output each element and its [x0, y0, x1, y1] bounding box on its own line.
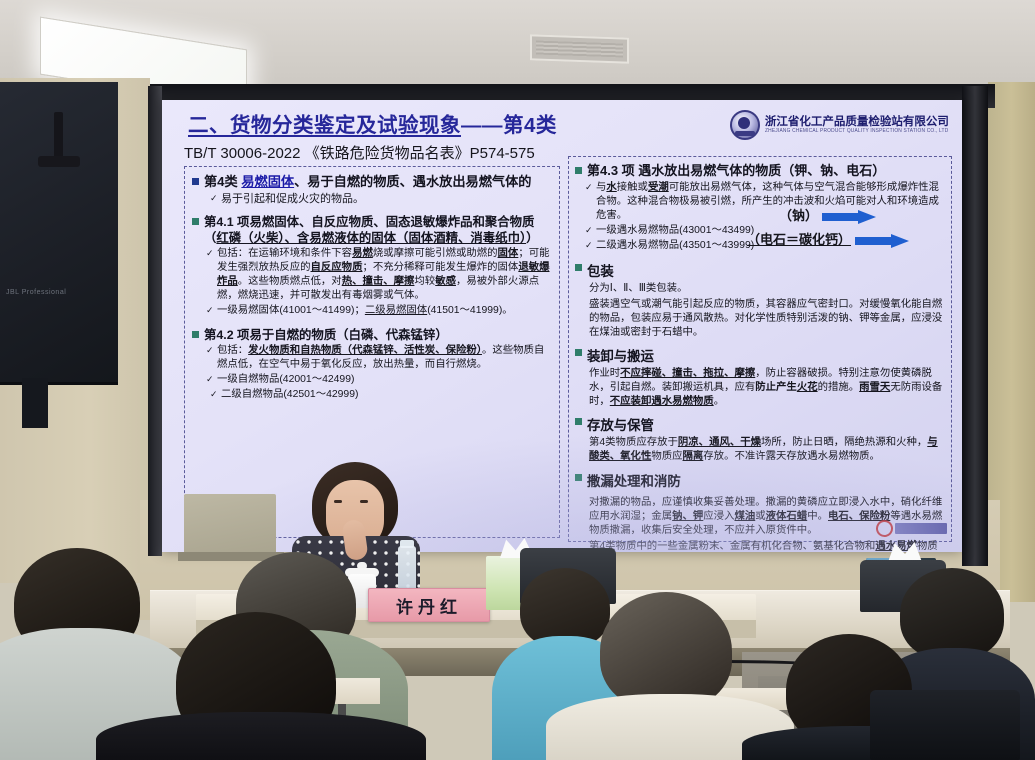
right-arrow-icon	[822, 210, 876, 223]
class4-heading: 第4类 易燃固体、易于自燃的物质、遇水放出易燃气体的	[204, 174, 532, 191]
section-packaging-title: 包装	[587, 260, 614, 280]
list-item-42: 第4.2 项易于自燃的物质（白磷、代森锰锌）	[192, 327, 552, 343]
item-43-check-1: 与水接触或受潮可能放出易燃气体，这种气体与空气混合能够形成爆炸性混合物。这种混合…	[585, 181, 945, 223]
ceiling-air-vent-icon	[530, 34, 629, 63]
square-bullet-icon	[192, 178, 199, 185]
section-storage-title: 存放与保管	[587, 414, 654, 434]
packaging-p1: 分为Ⅰ、Ⅱ、Ⅲ类包装。	[589, 282, 945, 296]
slide-title-tail: 第4类	[503, 114, 557, 137]
section-storage: 存放与保管	[575, 414, 945, 434]
slide-title: 二、货物分类鉴定及试验现象——第4类	[188, 108, 557, 138]
section-packaging: 包装	[575, 260, 945, 280]
slide-title-main: 二、货物分类鉴定及试验现象	[188, 114, 461, 137]
company-emblem-icon	[730, 110, 760, 140]
slide-title-dash: ——	[461, 114, 503, 137]
square-bullet-icon	[192, 331, 199, 338]
callout-carbide: （电石＝碳化钙）	[747, 229, 909, 248]
desk-microphone-stem	[54, 112, 63, 158]
item-42-check-2: 一级自燃物品(42001～42499)	[206, 373, 552, 387]
company-logo: 浙江省化工产品质量检验站有限公司 ZHEJIANG CHEMICAL PRODU…	[730, 110, 954, 140]
section-spill-title: 撒漏处理和消防	[587, 470, 681, 490]
spill-p2: 第4类物质中的一些金属粉末、金属有机化合物、氨基化合物和遇水易燃物质着火时，不准…	[589, 540, 945, 552]
screen-right-edge	[962, 86, 988, 566]
red-seal-watermark-icon	[876, 520, 947, 537]
right-content-column: 第4.3 项 遇水放出易燃气体的物质（钾、钠、电石） 与水接触或受潮可能放出易燃…	[568, 156, 952, 542]
item-43-heading: 第4.3 项 遇水放出易燃气体的物质（钾、钠、电石）	[587, 163, 885, 180]
company-name-cn: 浙江省化工产品质量检验站有限公司	[765, 116, 954, 129]
audience-head	[600, 592, 732, 710]
presenter-name-text: 许丹红	[396, 593, 462, 618]
audience-head	[900, 568, 1004, 660]
item-41-check-2: 一级易燃固体(41001～41499)；二级易燃固体(41501～41999)。	[206, 304, 552, 318]
desk-microphone-base	[38, 156, 80, 167]
square-bullet-icon	[575, 167, 582, 174]
square-bullet-icon	[575, 418, 582, 425]
speaker-brand-label: JBL Professional	[6, 289, 66, 296]
presenter-eye-left	[334, 500, 342, 503]
section-spill: 撒漏处理和消防	[575, 470, 945, 490]
packaging-p2: 盛装遇空气或潮气能引起反应的物质，其容器应气密封口。对缓慢氧化能自燃的物品，包装…	[589, 298, 945, 340]
audience-shoulders	[96, 712, 426, 760]
presenter-nameplate: 许丹红	[368, 588, 490, 622]
class4-check-1: 易于引起和促成火灾的物品。	[210, 192, 552, 207]
callout-sodium: （钠）	[779, 205, 876, 224]
item-42-heading: 第4.2 项易于自燃的物质（白磷、代森锰锌）	[204, 327, 448, 343]
list-item-41: 第4.1 项易燃固体、自反应物质、固态退敏爆炸品和聚合物质（红磷（火柴）、含易燃…	[192, 214, 552, 246]
item-42-check-3: 二级自燃物品(42501～42999)	[210, 388, 552, 402]
screenshot-root: JBL Professional 二、货物分类鉴定及试验现象——第4类 浙江省化…	[0, 0, 1035, 760]
right-arrow-icon	[855, 234, 909, 247]
square-bullet-icon	[575, 349, 582, 356]
item-42-check-1: 包括：发火物质和自热物质（代森锰锌、活性炭、保险粉）。这些物质自燃点低，在空气中…	[206, 344, 552, 372]
item-41-check-1: 包括：在运输环境和条件下容易燃烧或摩擦可能引燃或助燃的固体；可能发生强烈放热反应…	[206, 247, 552, 303]
item-41-heading: 第4.1 项易燃固体、自反应物质、固态退敏爆炸品和聚合物质（红磷（火柴）、含易燃…	[204, 214, 552, 246]
presenter-eye-right	[360, 500, 368, 503]
square-bullet-icon	[192, 218, 199, 225]
speaker-mount-bracket	[22, 378, 48, 428]
list-item-class4: 第4类 易燃固体、易于自燃的物质、遇水放出易燃气体的	[192, 174, 552, 191]
standard-reference-line: TB/T 30006-2022 《铁路危险货物品名表》P574-575	[184, 142, 535, 163]
handling-p1: 作业时不应摔碰、撞击、拖拉、摩擦，防止容器破损。特别注意勿使黄磷脱水，引起自燃。…	[589, 367, 945, 409]
square-bullet-icon	[575, 474, 582, 481]
screen-left-edge	[148, 86, 162, 556]
section-handling-title: 装卸与搬运	[587, 345, 654, 365]
laptop-screen	[184, 494, 276, 554]
company-name-en: ZHEJIANG CHEMICAL PRODUCT QUALITY INSPEC…	[765, 128, 948, 134]
projected-slide: 二、货物分类鉴定及试验现象——第4类 浙江省化工产品质量检验站有限公司 ZHEJ…	[162, 100, 962, 552]
square-bullet-icon	[575, 264, 582, 271]
chair-back	[870, 690, 1020, 760]
section-handling: 装卸与搬运	[575, 345, 945, 365]
storage-p1: 第4类物质应存放于阴凉、通风、干燥场所，防止日晒，隔绝热源和火种，与酸类、氧化性…	[589, 436, 945, 464]
list-item-43: 第4.3 项 遇水放出易燃气体的物质（钾、钠、电石）	[575, 163, 945, 180]
